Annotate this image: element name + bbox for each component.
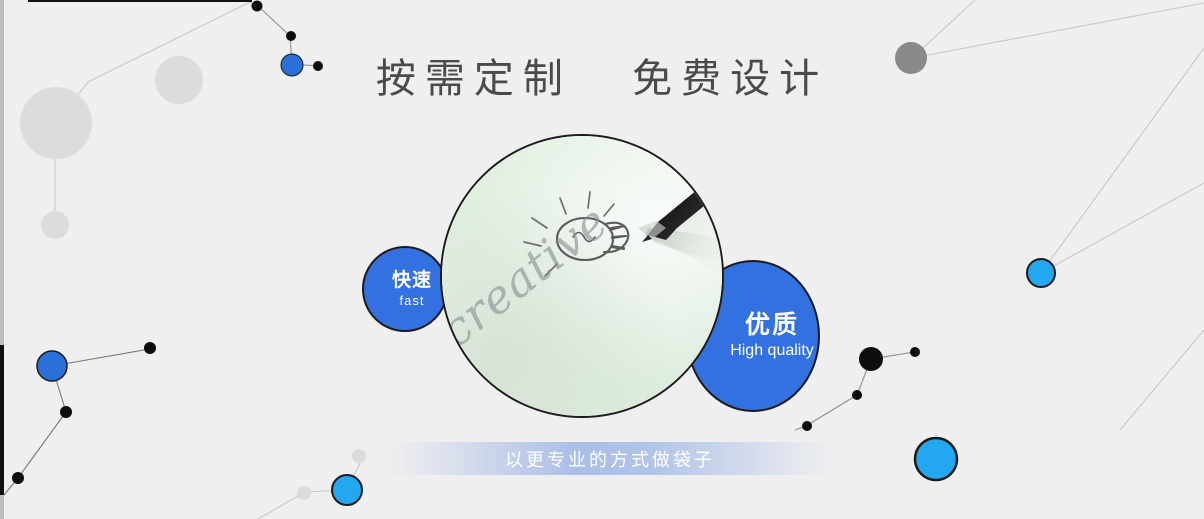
page-title: 按需定制 免费设计 [0, 46, 1204, 104]
left-black-bar [0, 345, 4, 495]
bubble-fast-en: fast [400, 294, 425, 308]
tagline-banner: 以更专业的方式做袋子 [386, 442, 834, 475]
decor-dot-gray [352, 449, 366, 463]
banner-graphic-stage: 按需定制 免费设计 [0, 0, 1204, 519]
bubble-quality-cn: 优质 [745, 312, 799, 338]
decor-node-blue [37, 351, 67, 381]
decor-node-cyan [332, 475, 362, 505]
decor-dot-gray [297, 486, 311, 500]
creative-photo-circle: creative [440, 134, 724, 418]
decor-dot-black [12, 472, 24, 484]
bubble-quality-en: High quality [730, 343, 814, 360]
decor-blob-small [41, 211, 69, 239]
decor-dot-black [252, 1, 263, 12]
decor-dot-black [60, 406, 72, 418]
decor-dot-black [286, 31, 296, 41]
svg-text:creative: creative [442, 194, 618, 358]
decor-dot-black [802, 421, 812, 431]
decor-node-cyan [1027, 259, 1055, 287]
sketch-artwork: creative [442, 136, 724, 418]
tagline-text: 以更专业的方式做袋子 [505, 446, 715, 472]
decor-dot-black [910, 347, 920, 357]
decor-dot-black-large [859, 347, 883, 371]
decor-dot-black [144, 342, 156, 354]
bubble-fast-cn: 快速 [392, 271, 432, 291]
decor-node-cyan [915, 438, 957, 480]
top-rule [28, 0, 252, 2]
feature-bubble-fast[interactable]: 快速 fast [362, 246, 448, 332]
decor-dot-black [852, 390, 862, 400]
